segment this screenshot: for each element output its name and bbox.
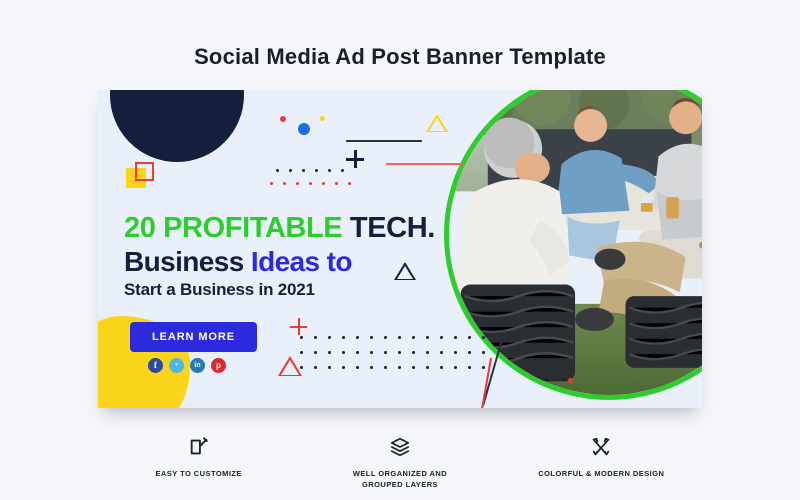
red-triangle-outline-icon [278,356,302,376]
patio-group-photo-illustration [449,90,702,395]
feature-label: COLORFUL & MODERN DESIGN [538,469,664,480]
red-square-outline-decoration [135,162,154,181]
facebook-icon[interactable]: f [148,358,163,373]
red-dot-right-decoration [568,378,573,383]
dot-row-dark-top [276,169,344,172]
yellow-dot-decoration [320,116,325,121]
headline-line-2-blue: Ideas to [251,246,352,277]
banner-headline: 20 PROFITABLE TECH. Business Ideas to St… [124,214,435,300]
dot-grid-row-2 [300,351,485,354]
navy-plus-icon [346,150,364,168]
headline-line-3: Start a Business in 2021 [124,280,435,300]
social-icon-row: f ᵛ in р [148,358,226,373]
dot-grid-row-3 [300,366,485,369]
banner-photo-inner [449,90,702,395]
feature-label: EASY TO CUSTOMIZE [155,469,241,480]
twitter-icon[interactable]: ᵛ [169,358,184,373]
ad-banner: 20 PROFITABLE TECH. Business Ideas to St… [98,90,702,408]
feature-item: COLORFUL & MODERN DESIGN [501,436,702,491]
page-title: Social Media Ad Post Banner Template [0,44,800,70]
edit-square-icon [188,436,210,463]
red-line-decoration [386,163,464,165]
blue-dot-decoration [298,123,310,135]
feature-label: WELL ORGANIZED AND GROUPED LAYERS [353,469,447,491]
layers-stack-icon [389,436,411,463]
feature-item: EASY TO CUSTOMIZE [98,436,299,491]
headline-line-2: Business Ideas to [124,246,435,277]
linkedin-icon[interactable]: in [190,358,205,373]
headline-line-2-navy: Business [124,246,244,277]
headline-line-1: 20 PROFITABLE TECH. [124,214,435,244]
yellow-triangle-outline-icon [426,114,448,132]
learn-more-button[interactable]: LEARN MORE [130,322,257,352]
headline-line-1-navy: TECH. [350,212,435,244]
headline-line-1-green: 20 PROFITABLE [124,212,342,244]
red-plus-icon [290,318,307,335]
dark-line-decoration [346,140,422,142]
dot-row-bottom-right [546,378,565,381]
pinterest-icon[interactable]: р [211,358,226,373]
navy-semicircle-decoration [110,90,244,162]
crossed-tools-icon [590,436,612,463]
dot-grid-row-1 [300,336,485,339]
navy-triangle-outline-icon [394,262,416,280]
feature-item: WELL ORGANIZED AND GROUPED LAYERS [299,436,500,491]
dot-row-red-top [270,182,351,185]
feature-strip: EASY TO CUSTOMIZE WELL ORGANIZED AND GRO… [98,436,702,491]
red-dot-decoration [280,116,286,122]
